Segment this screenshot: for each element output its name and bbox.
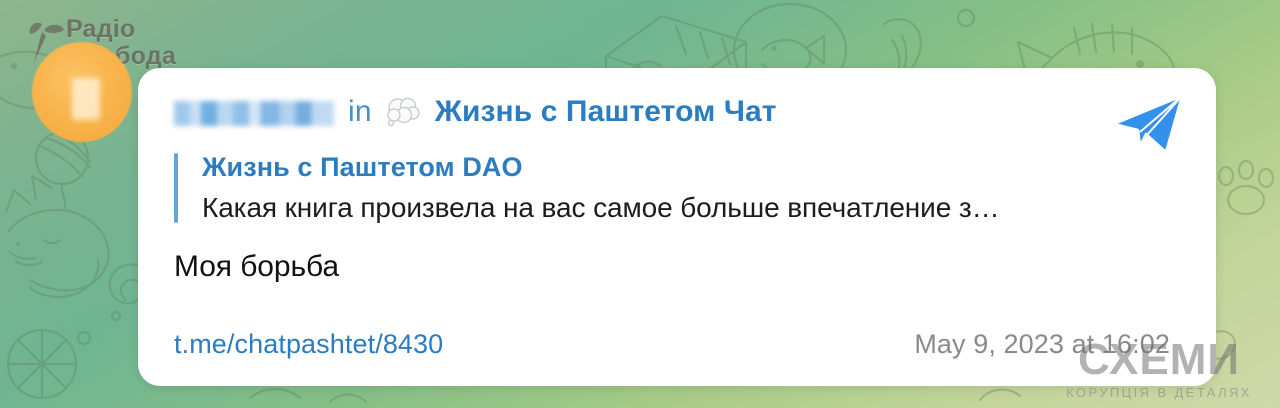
screenshot-root: Радіо Свобода in — [0, 0, 1280, 408]
thought-bubble-icon — [383, 95, 423, 129]
telegram-message-card: in Жизнь с Паштетом Чат Жизнь с Паштетом… — [138, 68, 1216, 386]
card-footer: t.me/chatpashtet/8430 May 9, 2023 at 16:… — [174, 329, 1176, 360]
brand-line-1: Радіо — [66, 16, 176, 43]
watermark-subtitle: КОРУПЦІЯ В ДЕТАЛЯХ — [1050, 384, 1268, 402]
quote-text: Какая книга произвела на вас самое больш… — [202, 188, 1186, 228]
quote-accent-bar — [174, 153, 178, 223]
message-text: Моя борьба — [174, 248, 1186, 286]
message-permalink[interactable]: t.me/chatpashtet/8430 — [174, 329, 443, 360]
message-timestamp: May 9, 2023 at 16:02 — [914, 329, 1176, 360]
chat-title[interactable]: Жизнь с Паштетом Чат — [435, 95, 777, 129]
header-connector: in — [348, 95, 372, 129]
avatar-redaction-blur — [72, 78, 100, 120]
card-header: in Жизнь с Паштетом Чат — [174, 86, 1186, 138]
quote-source-title: Жизнь с Паштетом DAO — [202, 150, 1186, 184]
doodle-bottom — [250, 389, 1020, 402]
doodle-paw — [1219, 161, 1273, 214]
doodle-yarn — [36, 132, 90, 210]
doodle-cat — [6, 176, 108, 297]
quoted-message[interactable]: Жизнь с Паштетом DAO Какая книга произве… — [174, 150, 1186, 228]
doodle-beachball — [8, 330, 76, 398]
username-redacted — [174, 101, 334, 126]
